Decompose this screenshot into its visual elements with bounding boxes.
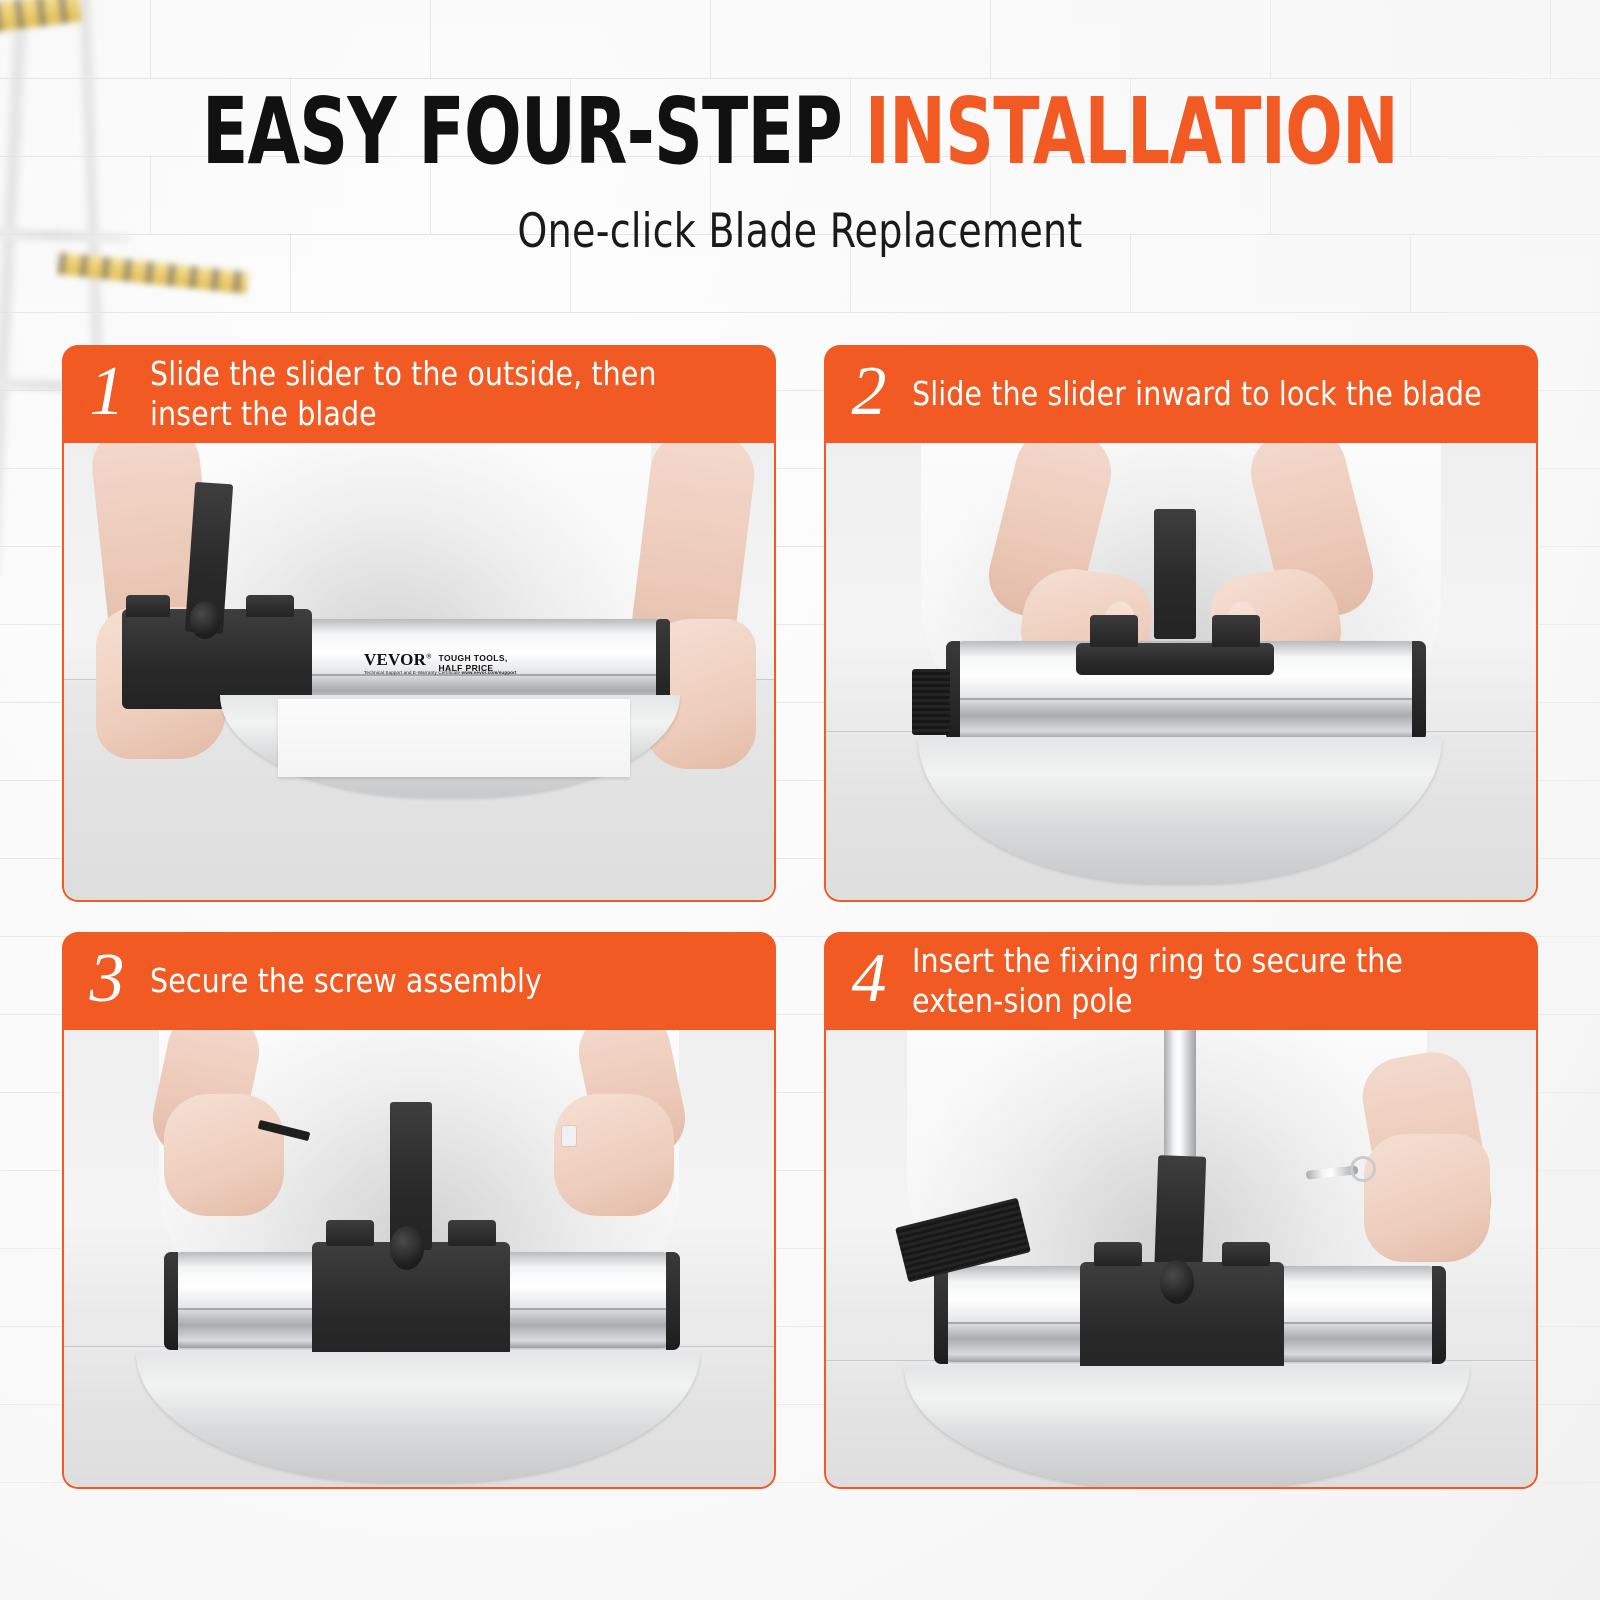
decal-fine-print: Technical Support and E-Warranty Certifi… bbox=[364, 670, 517, 675]
step-number-3: 3 bbox=[84, 944, 130, 1014]
slider-tab-right bbox=[1212, 615, 1260, 647]
wrist-strap bbox=[912, 669, 950, 735]
tube-cap-right bbox=[1432, 1266, 1446, 1364]
page-subtitle: One-click Blade Replacement bbox=[80, 204, 1520, 259]
screw-nut bbox=[562, 1126, 576, 1146]
left-fist bbox=[164, 1094, 284, 1216]
slider-tab-right bbox=[448, 1220, 496, 1246]
step-card-1: 1 Slide the slider to the outside, then … bbox=[62, 345, 776, 902]
scene-step-2 bbox=[826, 443, 1536, 900]
step-text-4: Insert the fixing ring to secure the ext… bbox=[912, 941, 1498, 1022]
step-number-2: 2 bbox=[846, 357, 892, 427]
page-title: EASY FOUR-STEP INSTALLATION bbox=[144, 86, 1456, 178]
header: EASY FOUR-STEP INSTALLATION One-click Bl… bbox=[0, 86, 1600, 259]
step-photo-2 bbox=[824, 443, 1538, 902]
blade-face bbox=[278, 699, 630, 777]
decal-brand: VEVOR® bbox=[364, 651, 432, 668]
slider-tab-right bbox=[246, 595, 294, 617]
slider-block bbox=[1076, 643, 1274, 675]
tube-cap-right bbox=[1412, 641, 1426, 741]
pivot-joint bbox=[390, 1226, 424, 1270]
step-banner-2: 2 Slide the slider inward to lock the bl… bbox=[824, 345, 1538, 443]
slider-tab-left bbox=[1090, 615, 1138, 647]
pivot-joint bbox=[190, 601, 220, 639]
step-number-4: 4 bbox=[846, 944, 892, 1014]
step-text-2: Slide the slider inward to lock the blad… bbox=[912, 374, 1482, 414]
slider-tab-left bbox=[1094, 1242, 1142, 1266]
step-banner-4: 4 Insert the fixing ring to secure the e… bbox=[824, 932, 1538, 1030]
right-fist bbox=[554, 1094, 674, 1216]
tube-cap-left bbox=[164, 1252, 178, 1350]
step-card-3: 3 Secure the screw assembly bbox=[62, 932, 776, 1489]
scene-step-4 bbox=[826, 1030, 1536, 1487]
tube-cap-left bbox=[934, 1266, 948, 1364]
slider-tab-right bbox=[1222, 1242, 1270, 1266]
page-title-accent: INSTALLATION bbox=[865, 78, 1398, 185]
step-card-4: 4 Insert the fixing ring to secure the e… bbox=[824, 932, 1538, 1489]
step-card-2: 2 Slide the slider inward to lock the bl… bbox=[824, 345, 1538, 902]
step-photo-1: VEVOR® TOUGH TOOLS, HALF PRICE Technical… bbox=[62, 443, 776, 902]
fixing-ring bbox=[1350, 1156, 1376, 1182]
tube-cap-right bbox=[666, 1252, 680, 1350]
step-text-3: Secure the screw assembly bbox=[150, 961, 542, 1001]
steps-grid: 1 Slide the slider to the outside, then … bbox=[62, 345, 1538, 1520]
scene-step-3 bbox=[64, 1030, 774, 1487]
step-number-1: 1 bbox=[84, 357, 130, 427]
pivot-joint bbox=[1160, 1260, 1194, 1304]
pole-bracket bbox=[1154, 509, 1196, 639]
vevor-decal: VEVOR® TOUGH TOOLS, HALF PRICE Technical… bbox=[364, 651, 508, 674]
step-banner-3: 3 Secure the screw assembly bbox=[62, 932, 776, 1030]
right-hand bbox=[1364, 1134, 1490, 1262]
slider-tab-left bbox=[126, 595, 170, 617]
page-title-main: EASY FOUR-STEP bbox=[202, 78, 865, 185]
step-photo-4 bbox=[824, 1030, 1538, 1489]
slider-tab-left bbox=[326, 1220, 374, 1246]
scene-step-1: VEVOR® TOUGH TOOLS, HALF PRICE Technical… bbox=[64, 443, 774, 900]
step-banner-1: 1 Slide the slider to the outside, then … bbox=[62, 345, 776, 443]
step-text-1: Slide the slider to the outside, then in… bbox=[150, 354, 736, 435]
step-photo-3 bbox=[62, 1030, 776, 1489]
